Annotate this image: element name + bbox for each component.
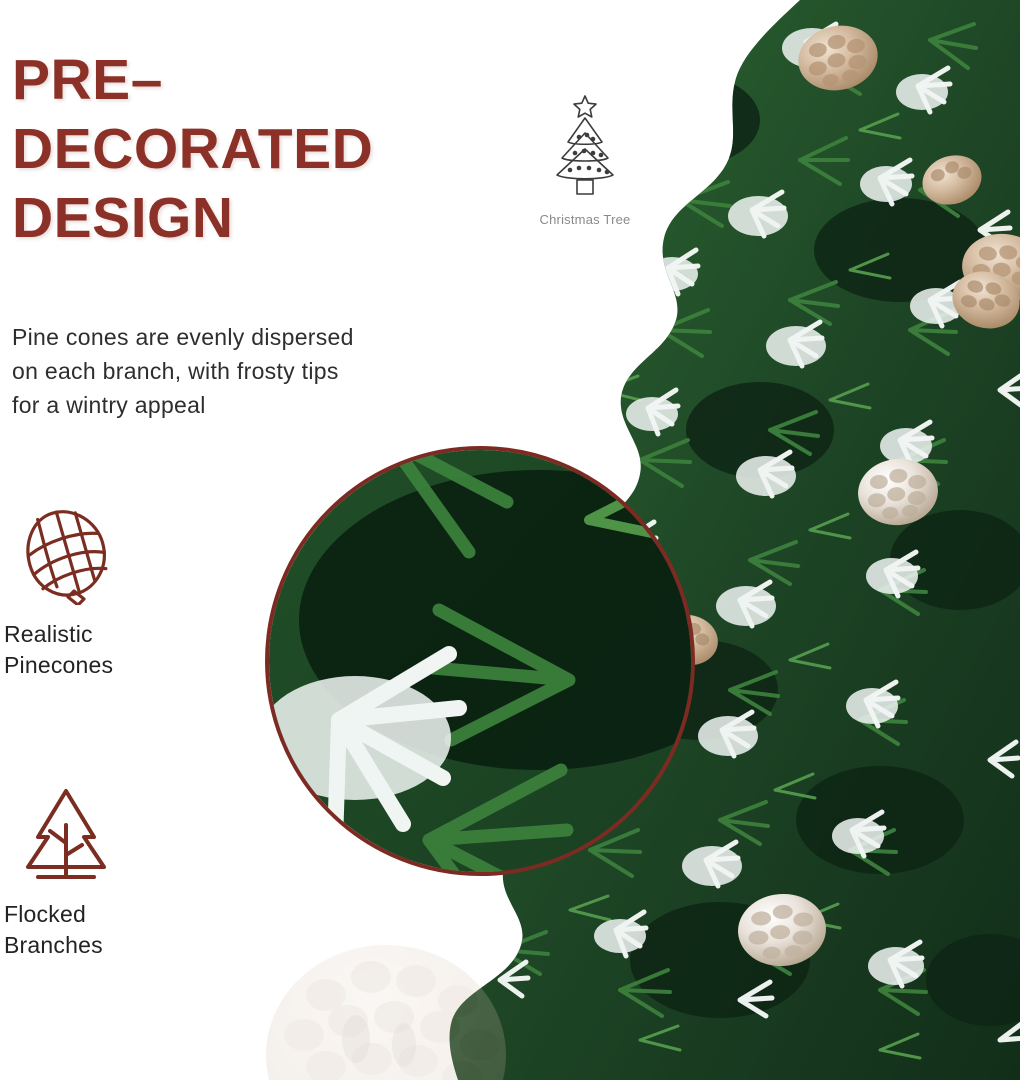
- feature-label-pinecones-line-2: Pinecones: [4, 650, 184, 681]
- feature-label-flocked-line-1: Flocked: [4, 899, 184, 930]
- pinecone-watermark-shape: [236, 935, 536, 1080]
- feature-label-pinecones: Realistic Pinecones: [4, 619, 184, 681]
- description-text: Pine cones are evenly dispersed on each …: [12, 320, 442, 422]
- feature-flocked-branches: Flocked Branches: [4, 785, 184, 961]
- magnified-foliage-detail: [265, 446, 695, 876]
- headline-line-2: DECORATED: [12, 115, 482, 184]
- christmas-tree-icon: [533, 93, 637, 201]
- page-title: PRE– DECORATED DESIGN: [12, 46, 482, 253]
- feature-label-flocked: Flocked Branches: [4, 899, 184, 961]
- product-feature-infographic: PRE– DECORATED DESIGN Pine cones are eve…: [0, 0, 1020, 1080]
- headline-line-3: DESIGN: [12, 184, 482, 253]
- pinecone-icon: [16, 505, 116, 605]
- christmas-tree-caption: Christmas Tree: [530, 212, 640, 227]
- christmas-tree-badge: Christmas Tree: [530, 93, 640, 227]
- description-line-2: on each branch, with frosty tips: [12, 354, 442, 388]
- description-line-1: Pine cones are evenly dispersed: [12, 320, 442, 354]
- faded-pinecone-watermark: [236, 935, 536, 1080]
- flocked-tree-icon: [16, 785, 116, 885]
- feature-realistic-pinecones: Realistic Pinecones: [4, 505, 184, 681]
- feature-label-pinecones-line-1: Realistic: [4, 619, 184, 650]
- headline-line-1: PRE–: [12, 46, 482, 115]
- description-line-3: for a wintry appeal: [12, 388, 442, 422]
- magnified-detail-circle: [265, 446, 695, 876]
- feature-label-flocked-line-2: Branches: [4, 930, 184, 961]
